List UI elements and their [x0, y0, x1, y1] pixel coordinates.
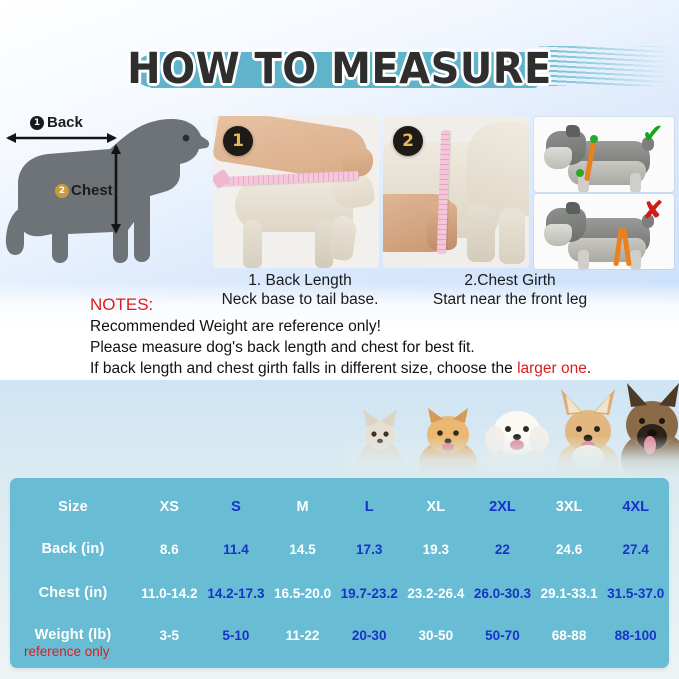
table-row-label: Back (in): [10, 541, 136, 557]
chest-girth-photo: 2: [383, 116, 529, 268]
notes-block: NOTES: Recommended Weight are reference …: [90, 294, 670, 379]
header-cell-4xl: 4XL: [602, 499, 669, 515]
header-cell-m: M: [269, 499, 336, 515]
dog-size-row: [345, 383, 679, 478]
back-measure-label: 1 Back: [30, 114, 83, 131]
back-length-photo: 1: [213, 116, 379, 268]
dog-beard: [544, 147, 572, 169]
notes-heading: NOTES:: [90, 294, 670, 316]
title-area: HOW TO MEASURE: [0, 38, 679, 100]
weight-cell-3xl: 68-88: [536, 628, 603, 643]
size-table: Size XS S M L XL 2XL 3XL 4XL Back (in) 8…: [10, 478, 669, 668]
table-row-label: Weight (lb): [10, 627, 136, 643]
back-cell-3xl: 24.6: [536, 542, 603, 557]
table-row-chest: Chest (in) 11.0-14.2 14.2-17.3 16.5-20.0…: [10, 578, 669, 608]
chest-cell-l: 19.7-23.2: [336, 586, 403, 601]
back-cell-l: 17.3: [336, 542, 403, 557]
dog-ear: [566, 202, 580, 214]
notes-line-2: Please measure dog's back length and che…: [90, 337, 670, 358]
back-cell-s: 11.4: [203, 542, 270, 557]
weight-cell-m: 11-22: [269, 628, 336, 643]
header-cell-l: L: [336, 499, 403, 515]
table-footnote: reference only: [24, 644, 110, 659]
table-row-back: Back (in) 8.6 11.4 14.5 17.3 19.3 22 24.…: [10, 534, 669, 564]
correct-check-icon: ✔: [642, 121, 668, 147]
chest-cell-xs: 11.0-14.2: [136, 586, 203, 601]
chest-cell-s: 14.2-17.3: [203, 586, 270, 601]
back-cell-xl: 19.3: [403, 542, 470, 557]
step-2-badge: 2: [393, 126, 423, 156]
marker-dot-top: [590, 135, 598, 143]
table-header-row: Size XS S M L XL 2XL 3XL 4XL: [10, 492, 669, 522]
notes-line-3-post: .: [587, 360, 591, 377]
weight-cell-xl: 30-50: [403, 628, 470, 643]
incorrect-fit-photo: ✘: [534, 194, 674, 269]
dog-leg-front: [578, 250, 589, 269]
header-cell-xs: XS: [136, 499, 203, 515]
weight-cell-2xl: 50-70: [469, 628, 536, 643]
dog-ear: [566, 125, 580, 137]
chest-measure-label: 2 Chest: [55, 182, 113, 199]
chest-cell-4xl: 31.5-37.0: [602, 586, 669, 601]
notes-line-3-pre: If back length and chest girth falls in …: [90, 360, 517, 377]
header-cell-3xl: 3XL: [536, 499, 603, 515]
dog-leg-rear: [630, 173, 641, 192]
caption-chest-line1: 2.Chest Girth: [400, 271, 620, 290]
back-cell-4xl: 27.4: [602, 542, 669, 557]
dog-silhouette-diagram: 1 Back 2 Chest: [0, 112, 212, 277]
weight-cell-4xl: 88-100: [602, 628, 669, 643]
weight-cell-s: 5-10: [203, 628, 270, 643]
dog-beard: [544, 224, 572, 246]
chest-cell-2xl: 26.0-30.3: [469, 586, 536, 601]
notes-line-1: Recommended Weight are reference only!: [90, 316, 670, 337]
back-cell-m: 14.5: [269, 542, 336, 557]
correct-fit-photo: ✔: [534, 117, 674, 192]
marker-dot-bottom: [576, 169, 584, 177]
size-chart-infographic: HOW TO MEASURE 1 Back 2 Chest: [0, 0, 679, 679]
mannequin-chest-leg-a: [467, 204, 495, 262]
header-cell-xl: XL: [403, 499, 470, 515]
notes-line-3-emphasis: larger one: [517, 360, 587, 377]
header-cell-2xl: 2XL: [469, 499, 536, 515]
back-cell-xs: 8.6: [136, 542, 203, 557]
page-title: HOW TO MEASURE: [24, 38, 655, 100]
chest-cell-xl: 23.2-26.4: [403, 586, 470, 601]
back-number-badge: 1: [30, 116, 44, 130]
back-cell-2xl: 22: [469, 542, 536, 557]
mannequin-leg-rear: [243, 220, 262, 268]
incorrect-cross-icon: ✘: [642, 198, 668, 224]
back-label-text: Back: [47, 114, 83, 131]
weight-cell-xs: 3-5: [136, 628, 203, 643]
chest-number-badge: 2: [55, 184, 69, 198]
header-cell-s: S: [203, 499, 270, 515]
table-row-label: Chest (in): [10, 585, 136, 601]
table-row-label: Size: [10, 499, 136, 515]
weight-cell-l: 20-30: [336, 628, 403, 643]
caption-back-line1: 1. Back Length: [205, 271, 395, 290]
dog-leg-rear: [630, 250, 641, 269]
mannequin-chest-leg-b: [499, 208, 525, 264]
photo-fade-overlay: [345, 436, 679, 478]
measuring-tape-end: [213, 169, 232, 190]
mannequin-leg-front2: [328, 215, 358, 262]
chest-cell-m: 16.5-20.0: [269, 586, 336, 601]
step-1-badge: 1: [223, 126, 253, 156]
chest-label-text: Chest: [71, 182, 113, 199]
chest-cell-3xl: 29.1-33.1: [536, 586, 603, 601]
notes-line-3: If back length and chest girth falls in …: [90, 358, 670, 379]
